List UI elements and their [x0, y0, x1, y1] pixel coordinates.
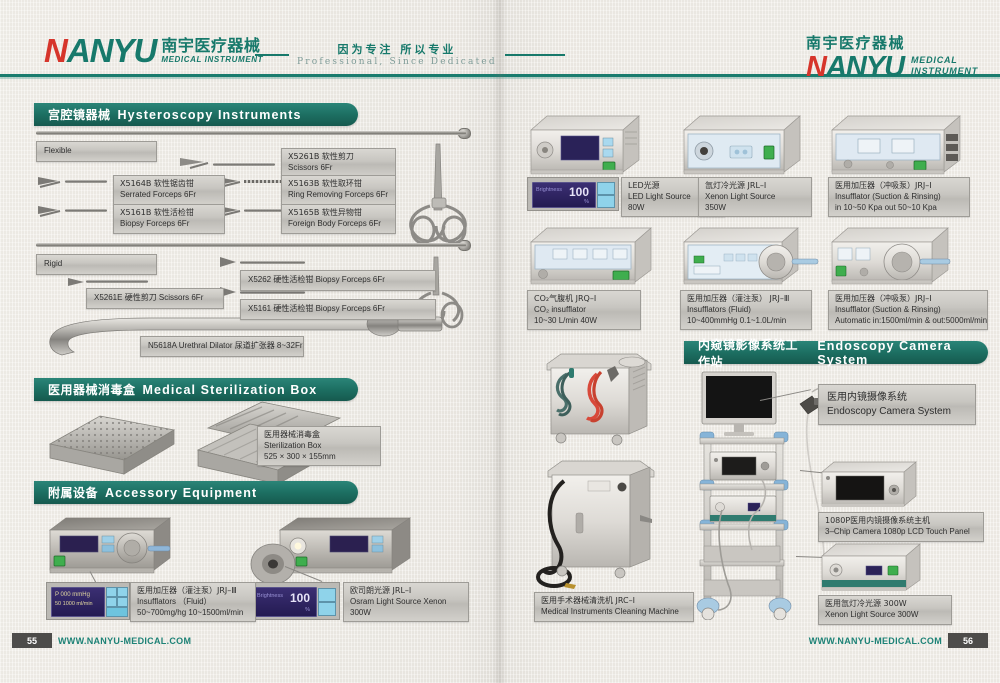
- display-button-wide[interactable]: [106, 607, 128, 617]
- group-label-rigid-text: Rigid: [44, 259, 149, 270]
- tagline-chinese: 因为专注 所以专业: [338, 44, 457, 57]
- device-insufflator-fluid-graphic: [44, 512, 184, 582]
- brand-right-english: MEDICAL INSTRUMENT: [911, 55, 978, 81]
- display-button-up-left[interactable]: [106, 587, 117, 597]
- brand-logo-left: NANYU 南宇医疗器械 MEDICAL INSTRUMENT: [44, 36, 263, 66]
- display-screen-insufflator: P 000 mmHg 50 1000 ml/min: [51, 587, 105, 617]
- item-label-rigid-scissors: X5261E 硬性剪刀 Scissors 6Fr: [86, 288, 224, 309]
- item-label-insufflator-suction-1: 医用加压器（冲吸泵）JRJ–Ⅰ Insufflator (Suction & R…: [828, 177, 970, 217]
- brand-right-wordmark-n: N: [806, 51, 826, 83]
- item-label-rigid-biopsy-1: X5262 硬性活检钳 Biopsy Forceps 6Fr: [240, 270, 436, 291]
- item-label-rigid-biopsy-1-text: X5262 硬性活检钳 Biopsy Forceps 6Fr: [248, 275, 428, 286]
- item-label-xenon-bottom: 医用氙灯冷光源 300W Xenon Light Source 300W: [818, 595, 952, 625]
- item-label-ring-en: Ring Removing Forceps 6Fr: [288, 190, 389, 201]
- item-label-foreign-cn: X5165B 软性异物钳: [288, 208, 389, 219]
- tagline-block: 因为专注 所以专业 Professional, Since Dedicated: [255, 44, 565, 67]
- display-panel-osram: Brightness 100 %: [248, 582, 340, 620]
- item-label-sterilization-box: 医用器械消毒盒 Sterilization Box 525 × 300 × 15…: [257, 426, 381, 466]
- section-banner-endoscopy-en: Endoscopy Camera System: [817, 339, 988, 367]
- device-insufflator-suction-graphic: [828, 110, 973, 182]
- item-label-insufflator-fluid-en: Insufflators （Fluid）: [137, 597, 249, 608]
- flexible-scope-shaft: [36, 131, 466, 135]
- item-label-xenon-en: Xenon Light Source: [705, 192, 805, 203]
- item-label-co2-en: CO₂ insufflator: [534, 305, 634, 316]
- device-xenon-light-source-graphic: [680, 110, 810, 182]
- item-label-camera-host: 1080P医用内镜摄像系统主机 3–Chip Camera 1080p LCD …: [818, 512, 984, 542]
- brand-right-english-line1: MEDICAL: [911, 55, 978, 66]
- item-label-cleaning-en: Medical Instruments Cleaning Machine: [541, 607, 687, 618]
- item-label-osram-en: Osram Light Source Xenon: [350, 597, 462, 608]
- display-unit-osram: %: [305, 607, 310, 613]
- page-number-left: 55: [12, 633, 52, 648]
- item-label-biopsy-flex-en: Biopsy Forceps 6Fr: [120, 219, 218, 230]
- rigid-scope-shaft: [36, 243, 466, 247]
- device-led-light-source-graphic: [527, 110, 649, 182]
- item-label-insuf-suction-1-cn: 医用加压器（冲吸泵）JRJ–Ⅰ: [835, 181, 963, 192]
- brand-right-chinese: 南宇医疗器械: [806, 32, 905, 53]
- instrument-shaft-scissors: [213, 163, 275, 166]
- item-label-co2-insufflator: CO₂气腹机 JRQ–Ⅰ CO₂ insufflator 10~30 L/min…: [527, 290, 641, 330]
- display-button-up-right[interactable]: [117, 587, 128, 597]
- display-value-osram: 100: [290, 591, 310, 605]
- item-label-xenon-spec: 350W: [705, 203, 805, 214]
- item-label-camera-system: 医用内镜摄像系统 Endoscopy Camera System: [818, 384, 976, 425]
- item-label-serrated-cn: X5164B 软性锯齿钳: [120, 179, 218, 190]
- device-insufflator-fluid-right-graphic: [680, 222, 825, 292]
- item-label-insuf-fluid-r-cn: 医用加压器（灌注泵） JRJ–Ⅲ: [687, 294, 805, 305]
- item-label-insufflator-fluid-right: 医用加压器（灌注泵） JRJ–Ⅲ Insufflators (Fluid) 10…: [680, 290, 812, 330]
- section-banner-hysteroscopy-en: Hysteroscopy Instruments: [118, 108, 302, 122]
- item-label-cleaning-machine: 医用手术器械清洗机 JRC–Ⅰ Medical Instruments Clea…: [534, 592, 694, 622]
- item-label-insufflator-fluid-spec: 50~700mg/hg 10~1500ml/min: [137, 608, 249, 619]
- item-label-rigid-biopsy-2-text: X5161 硬性活检钳 Biopsy Forceps 6Fr: [248, 304, 428, 315]
- brand-right-wordmark-rest: ANYU: [826, 51, 904, 83]
- item-label-osram-spec: 300W: [350, 608, 462, 619]
- section-banner-sterilization-cn: 医用器械消毒盒: [48, 381, 136, 398]
- item-label-osram-light-source: 欧司朗光源 JRL–Ⅰ Osram Light Source Xenon 300…: [343, 582, 469, 622]
- brand-wordmark-n: N: [44, 32, 67, 69]
- display-panel-insufflator: P 000 mmHg 50 1000 ml/min: [46, 582, 130, 620]
- item-label-scissors-cn: X5261B 软性剪刀: [288, 152, 389, 163]
- brand-english-subtitle: MEDICAL INSTRUMENT: [161, 56, 263, 64]
- display-value-led: 100: [569, 185, 589, 199]
- item-label-osram-cn: 欧司朗光源 JRL–Ⅰ: [350, 586, 462, 597]
- item-label-rigid-scissors-text: X5261E 硬性剪刀 Scissors 6Fr: [94, 293, 216, 304]
- device-insufflator-suction-auto-graphic: [828, 222, 978, 292]
- scissors-jaw-icon: [178, 155, 218, 171]
- instrument-shaft-rigid-biopsy-2: [240, 291, 305, 294]
- item-label-scissors: X5261B 软性剪刀 Scissors 6Fr: [281, 148, 396, 178]
- section-banner-sterilization-en: Medical Sterilization Box: [143, 383, 318, 397]
- instrument-shaft-rigid-biopsy-1: [240, 261, 305, 264]
- item-label-sterilization-cn: 医用器械消毒盒: [264, 430, 374, 441]
- tagline-english: Professional, Since Dedicated: [297, 57, 497, 67]
- item-label-biopsy-forceps-flex: X5161B 软性活检钳 Biopsy Forceps 6Fr: [113, 204, 225, 234]
- footer-url-left: WWW.NANYU-MEDICAL.COM: [58, 633, 191, 648]
- item-label-xenon-bottom-cn: 医用氙灯冷光源 300W: [825, 599, 945, 610]
- item-label-foreign-body-forceps: X5165B 软性异物钳 Foreign Body Forceps 6Fr: [281, 204, 396, 234]
- page-number-right-text: 56: [963, 636, 973, 646]
- display-button-down-left[interactable]: [106, 597, 117, 607]
- rigid-hysteroscope-handle-graphic: [390, 140, 490, 270]
- item-label-insuf-fluid-r-en: Insufflators (Fluid): [687, 305, 805, 316]
- item-label-co2-spec: 10~30 L/min 40W: [534, 316, 634, 327]
- cleaning-machine-lower-graphic: [528, 455, 658, 590]
- item-label-camera-host-cn: 1080P医用内镜摄像系统主机: [825, 516, 977, 527]
- device-xenon-bottom-graphic: [818, 540, 933, 598]
- item-label-xenon-light-source: 氙灯冷光源 JRL–Ⅰ Xenon Light Source 350W: [698, 177, 812, 217]
- brightness-up-button-led[interactable]: [597, 182, 615, 195]
- brand-right-english-line2: INSTRUMENT: [911, 66, 978, 77]
- instrument-shaft-foreign: [244, 209, 282, 212]
- item-label-insuf-fluid-r-spec: 10~400mmHg 0.1~1.0L/min: [687, 316, 805, 327]
- section-banner-endoscopy: 内窥镜影像系统工作站 Endoscopy Camera System: [684, 341, 988, 364]
- device-camera-host-graphic: [818, 458, 928, 513]
- brightness-down-button-osram[interactable]: [318, 602, 336, 616]
- brand-right-wordmark: NANYU: [806, 54, 904, 80]
- section-banner-accessory-cn: 附属设备: [48, 484, 98, 501]
- item-label-insufflator-suction-auto: 医用加压器（冲吸泵）JRJ–Ⅰ Insufflator (Suction & R…: [828, 290, 988, 330]
- item-label-xenon-bottom-en: Xenon Light Source 300W: [825, 610, 945, 621]
- instrument-shaft-ring: [244, 180, 282, 183]
- brand-wordmark-rest: ANYU: [67, 32, 157, 69]
- device-co2-insufflator-graphic: [527, 222, 662, 292]
- section-banner-sterilization: 医用器械消毒盒 Medical Sterilization Box: [34, 378, 358, 401]
- light-guide-connector-graphic: [250, 543, 296, 585]
- item-label-camera-system-en: Endoscopy Camera System: [827, 405, 967, 419]
- item-label-camera-system-cn: 医用内镜摄像系统: [827, 391, 967, 405]
- section-banner-hysteroscopy-cn: 宫腔镜器械: [48, 106, 111, 123]
- item-label-ring-cn: X5163B 软性取环钳: [288, 179, 389, 190]
- display-screen-osram: Brightness 100 %: [253, 587, 317, 617]
- tagline-rule-right: [505, 54, 565, 56]
- item-label-urethral-dilator: N5618A Urethral Dilator 尿道扩张器 8~32Fr: [140, 336, 304, 357]
- group-label-rigid: Rigid: [36, 254, 157, 275]
- item-label-insuf-suction-1-en: Insufflator (Suction & Rinsing): [835, 192, 963, 203]
- brand-wordmark: NANYU: [44, 36, 156, 66]
- footer-url-right-text: WWW.NANYU-MEDICAL.COM: [809, 636, 942, 646]
- brightness-up-button-osram[interactable]: [318, 588, 336, 602]
- item-label-sterilization-dim: 525 × 300 × 155mm: [264, 452, 374, 463]
- section-banner-endoscopy-cn: 内窥镜影像系统工作站: [698, 336, 810, 370]
- brand-chinese-name: 南宇医疗器械: [161, 38, 263, 54]
- sterilization-box-closed-graphic: [44, 408, 179, 480]
- item-label-insuf-auto-en: Insufflator (Suction & Rinsing): [835, 305, 981, 316]
- item-label-insuf-auto-spec: Automatic in:1500ml/min & out:5000ml/min: [835, 316, 981, 327]
- section-banner-accessory-en: Accessory Equipment: [105, 486, 257, 500]
- item-label-serrated-forceps: X5164B 软性锯齿钳 Serrated Forceps 6Fr: [113, 175, 225, 205]
- item-label-co2-cn: CO₂气腹机 JRQ–Ⅰ: [534, 294, 634, 305]
- display-button-down-right[interactable]: [117, 597, 128, 607]
- item-label-camera-host-en: 3–Chip Camera 1080p LCD Touch Panel: [825, 527, 977, 538]
- footer-url-right: WWW.NANYU-MEDICAL.COM: [809, 633, 942, 648]
- instrument-shaft-rigid-scissors: [86, 280, 148, 283]
- catalog-page: NANYU 南宇医疗器械 MEDICAL INSTRUMENT 因为专注 所以专…: [0, 0, 1000, 683]
- item-label-scissors-en: Scissors 6Fr: [288, 163, 389, 174]
- brand-logo-right: 南宇医疗器械 NANYU MEDICAL INSTRUMENT: [806, 32, 978, 80]
- display-line-1-insufflator: P 000 mmHg: [52, 588, 104, 601]
- item-label-serrated-en: Serrated Forceps 6Fr: [120, 190, 218, 201]
- brand-chinese-block: 南宇医疗器械 MEDICAL INSTRUMENT: [161, 38, 263, 66]
- brightness-down-button-led[interactable]: [597, 195, 615, 208]
- item-label-insufflator-fluid-cn: 医用加压器（灌注泵）JRJ–Ⅲ: [137, 586, 249, 597]
- item-label-ring-removing-forceps: X5163B 软性取环钳 Ring Removing Forceps 6Fr: [281, 175, 396, 205]
- item-label-sterilization-en: Sterilization Box: [264, 441, 374, 452]
- item-label-xenon-cn: 氙灯冷光源 JRL–Ⅰ: [705, 181, 805, 192]
- tagline-text: 因为专注 所以专业 Professional, Since Dedicated: [297, 44, 497, 67]
- item-label-foreign-en: Foreign Body Forceps 6Fr: [288, 219, 389, 230]
- item-label-insuf-suction-1-spec: in 10~50 Kpa out 50~10 Kpa: [835, 203, 963, 214]
- group-label-flexible: Flexible: [36, 141, 157, 162]
- section-banner-accessory: 附属设备 Accessory Equipment: [34, 481, 358, 504]
- display-screen-led: Brightness 100 %: [532, 182, 596, 208]
- item-label-cleaning-cn: 医用手术器械清洗机 JRC–Ⅰ: [541, 596, 687, 607]
- item-label-urethral-dilator-text: N5618A Urethral Dilator 尿道扩张器 8~32Fr: [148, 341, 296, 352]
- instrument-shaft-serrated: [65, 180, 107, 183]
- display-unit-led: %: [584, 199, 589, 205]
- item-label-insuf-auto-cn: 医用加压器（冲吸泵）JRJ–Ⅰ: [835, 294, 981, 305]
- item-label-rigid-biopsy-2: X5161 硬性活检钳 Biopsy Forceps 6Fr: [240, 299, 436, 320]
- footer-url-left-text: WWW.NANYU-MEDICAL.COM: [58, 636, 191, 646]
- page-number-left-text: 55: [27, 636, 37, 646]
- page-gutter-shadow: [493, 0, 507, 683]
- group-label-flexible-text: Flexible: [44, 146, 149, 157]
- cleaning-machine-upper-graphic: [533, 348, 658, 453]
- tagline-rule-left: [255, 54, 289, 56]
- item-label-biopsy-flex-cn: X5161B 软性活检钳: [120, 208, 218, 219]
- instrument-shaft-biopsy: [65, 209, 107, 212]
- page-number-right: 56: [948, 633, 988, 648]
- item-label-insufflator-fluid: 医用加压器（灌注泵）JRJ–Ⅲ Insufflators （Fluid） 50~…: [130, 582, 256, 622]
- display-panel-led: Brightness 100 %: [527, 177, 619, 211]
- section-banner-hysteroscopy: 宫腔镜器械 Hysteroscopy Instruments: [34, 103, 358, 126]
- display-line-2-insufflator: 50 1000 ml/min: [52, 601, 104, 607]
